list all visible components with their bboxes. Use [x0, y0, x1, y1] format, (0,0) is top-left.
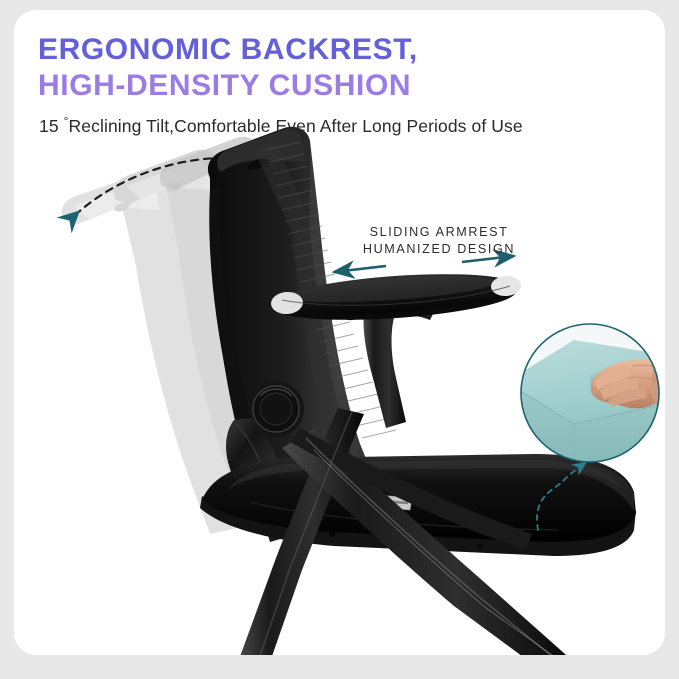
chair-legs [238, 408, 574, 655]
subheadline-text: Reclining Tilt,Comfortable Even After Lo… [69, 116, 523, 136]
white-card: ERGONOMIC BACKREST, HIGH-DENSITY CUSHION… [14, 10, 665, 655]
armrest-post [363, 310, 406, 428]
armrest-arrow-left [334, 266, 386, 272]
armrest-slide-arrows [334, 256, 514, 272]
armrest-callout-label: SLIDING ARMREST HUMANIZED DESIGN [339, 224, 539, 258]
headline-block: ERGONOMIC BACKREST, HIGH-DENSITY CUSHION [38, 32, 638, 104]
armrest-callout-line-2: HUMANIZED DESIGN [339, 241, 539, 258]
chair-illustration [14, 10, 665, 655]
tilt-degree-value: 15 [39, 116, 64, 136]
armrest-callout-line-1: SLIDING ARMREST [339, 224, 539, 241]
foam-inset [506, 324, 665, 470]
headline-line-2: HIGH-DENSITY CUSHION [38, 68, 638, 104]
headline-line-1: ERGONOMIC BACKREST, [38, 32, 638, 68]
product-feature-image: ERGONOMIC BACKREST, HIGH-DENSITY CUSHION… [0, 0, 679, 679]
subheadline: 15 °Reclining Tilt,Comfortable Even Afte… [39, 114, 523, 137]
